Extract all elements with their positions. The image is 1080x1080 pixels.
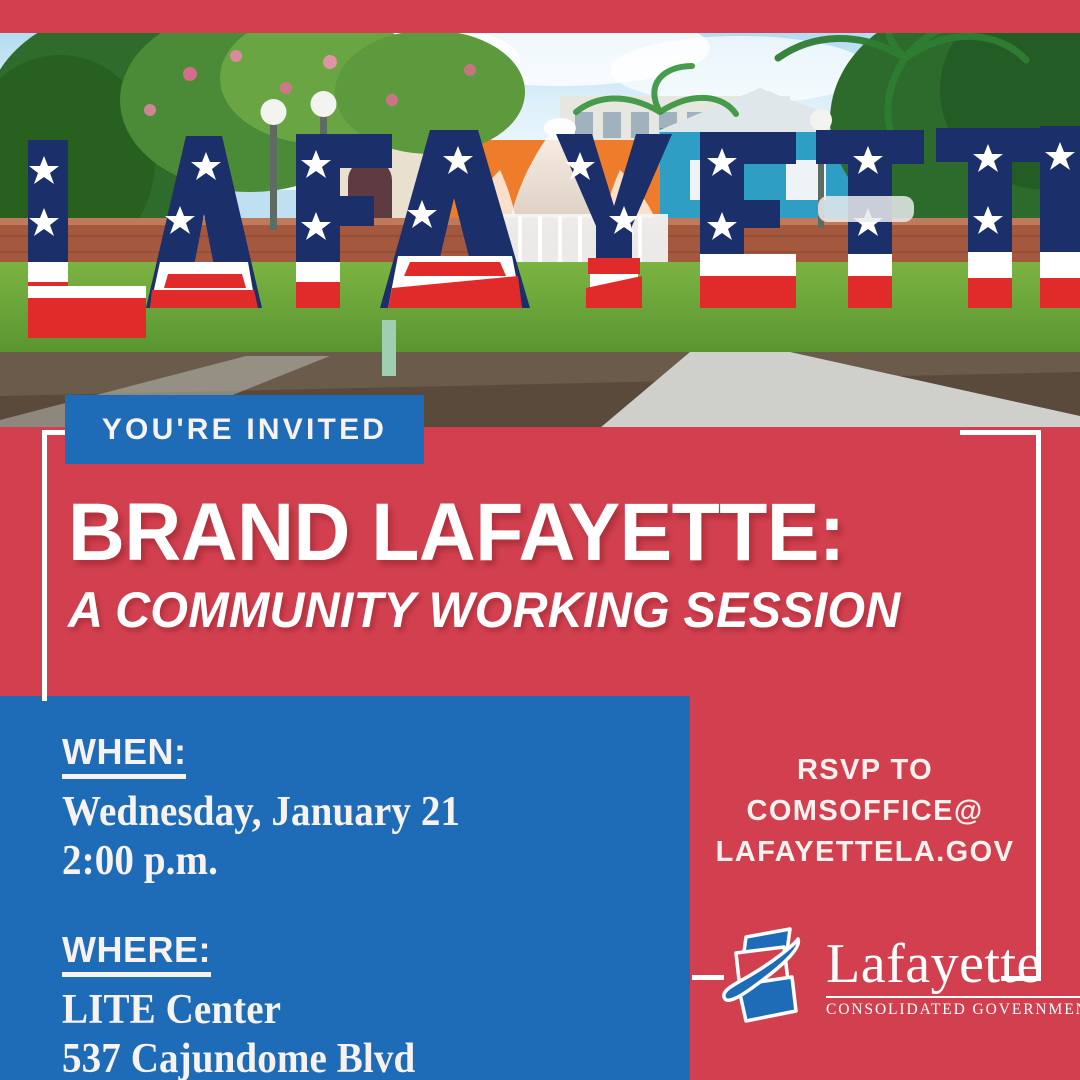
frame-corner-top-right [960,430,1041,435]
where-address: 537 Cajundome Blvd [62,1035,620,1080]
lafayette-consolidated-government-logo: Lafayette CONSOLIDATED GOVERNMENT [716,923,1026,1027]
page-subtitle: A COMMUNITY WORKING SESSION [68,585,980,635]
logo-dash-connector [692,975,724,980]
lcg-emblem-icon [716,923,820,1027]
logo-tagline: CONSOLIDATED GOVERNMENT [826,1002,1080,1018]
when-lines: Wednesday, January 21 2:00 p.m. [62,788,662,887]
where-lines: LITE Center 537 Cajundome Blvd [62,986,662,1080]
frame-line-right [1036,430,1041,981]
when-label: WHEN: [62,733,186,779]
park-photo-illustration [0,0,1080,428]
when-group: WHEN: Wednesday, January 21 2:00 p.m. [62,733,662,887]
where-venue: LITE Center [62,986,620,1036]
invitation-poster: YOU'RE INVITED BRAND LAFAYETTE: A COMMUN… [0,0,1080,1080]
where-label-row: WHERE: [62,931,662,977]
when-label-row: WHEN: [62,733,662,779]
rsvp-block: RSVP TO COMSOFFICE@ LAFAYETTELA.GOV [700,750,1030,874]
when-time: 2:00 p.m. [62,837,620,887]
logo-divider-rule [826,996,1080,998]
top-red-strip [0,0,1080,33]
rsvp-line-2: COMSOFFICE@ [700,791,1030,832]
when-date: Wednesday, January 21 [62,788,620,838]
badge-label: YOU'RE INVITED [102,415,387,445]
rsvp-line-1: RSVP TO [700,750,1030,791]
where-label: WHERE: [62,931,211,977]
page-title: BRAND LAFAYETTE: [68,493,970,573]
rsvp-line-3: LAFAYETTELA.GOV [700,832,1030,873]
where-group: WHERE: LITE Center 537 Cajundome Blvd [62,931,662,1080]
title-block: BRAND LAFAYETTE: A COMMUNITY WORKING SES… [68,493,1008,635]
event-details: WHEN: Wednesday, January 21 2:00 p.m. WH… [62,733,662,1080]
logo-wordmark: Lafayette [826,939,1080,991]
logo-text-lockup: Lafayette CONSOLIDATED GOVERNMENT [826,933,1080,1017]
frame-line-left [42,430,47,701]
youre-invited-badge: YOU'RE INVITED [65,395,424,464]
header-photo [0,0,1080,428]
